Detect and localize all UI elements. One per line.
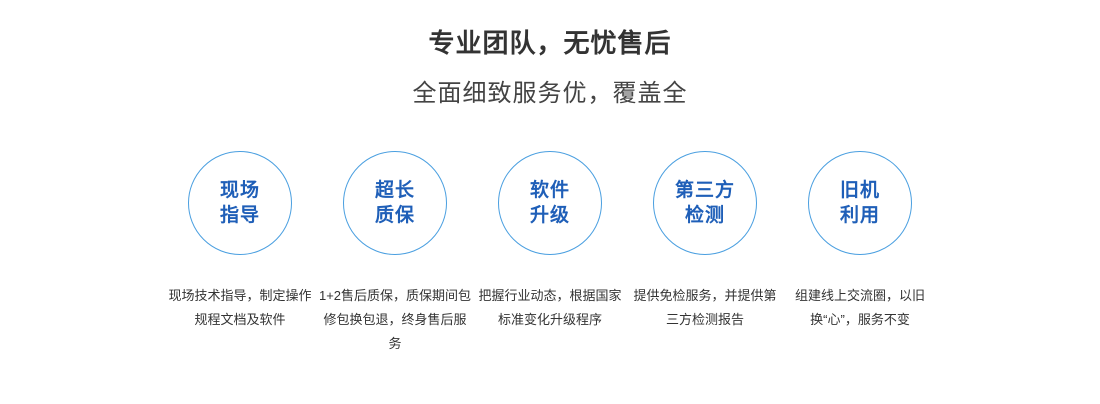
circle-label-line1: 第三方 <box>675 178 735 203</box>
circle-badge-software-upgrade[interactable]: 软件 升级 <box>498 151 602 255</box>
circle-label-line1: 旧机 <box>840 178 880 203</box>
circle-badge-third-party-testing[interactable]: 第三方 检测 <box>653 151 757 255</box>
circle-label-line1: 超长 <box>375 178 415 203</box>
circle-badge-old-machine-reuse[interactable]: 旧机 利用 <box>808 151 912 255</box>
feature-circle-item-5[interactable]: 旧机 利用 <box>808 151 912 255</box>
circle-label-line2: 利用 <box>840 203 880 228</box>
service-feature-banner: 专业团队，无忧售后 全面细致服务优，覆盖全 现场 指导 超长 质保 软件 升级 … <box>0 0 1100 404</box>
feature-caption-2: 1+2售后质保，质保期间包修包换包退，终身售后服务 <box>318 284 473 356</box>
feature-circle-item-2[interactable]: 超长 质保 <box>343 151 447 255</box>
circle-badge-extended-warranty[interactable]: 超长 质保 <box>343 151 447 255</box>
feature-circle-item-3[interactable]: 软件 升级 <box>498 151 602 255</box>
feature-caption-row: 现场技术指导，制定操作规程文档及软件 1+2售后质保，质保期间包修包换包退，终身… <box>0 284 1100 356</box>
circle-label-line1: 现场 <box>220 178 260 203</box>
circle-badge-onsite-guidance[interactable]: 现场 指导 <box>188 151 292 255</box>
circle-label-line2: 检测 <box>685 203 725 228</box>
feature-caption-3: 把握行业动态，根据国家标准变化升级程序 <box>473 284 628 332</box>
feature-circle-row: 现场 指导 超长 质保 软件 升级 第三方 检测 旧机 <box>0 151 1100 255</box>
feature-circle-item-4[interactable]: 第三方 检测 <box>653 151 757 255</box>
circle-label-line1: 软件 <box>530 178 570 203</box>
page-subtitle: 全面细致服务优，覆盖全 <box>0 59 1100 109</box>
feature-caption-1: 现场技术指导，制定操作规程文档及软件 <box>163 284 318 332</box>
circle-label-line2: 升级 <box>530 203 570 228</box>
heading-block: 专业团队，无忧售后 全面细致服务优，覆盖全 <box>0 0 1100 109</box>
feature-caption-5: 组建线上交流圈，以旧换“心”，服务不变 <box>783 284 938 332</box>
feature-circle-item-1[interactable]: 现场 指导 <box>188 151 292 255</box>
circle-label-line2: 指导 <box>220 203 260 228</box>
circle-label-line2: 质保 <box>375 203 415 228</box>
page-title: 专业团队，无忧售后 <box>0 27 1100 59</box>
feature-caption-4: 提供免检服务，并提供第三方检测报告 <box>628 284 783 332</box>
